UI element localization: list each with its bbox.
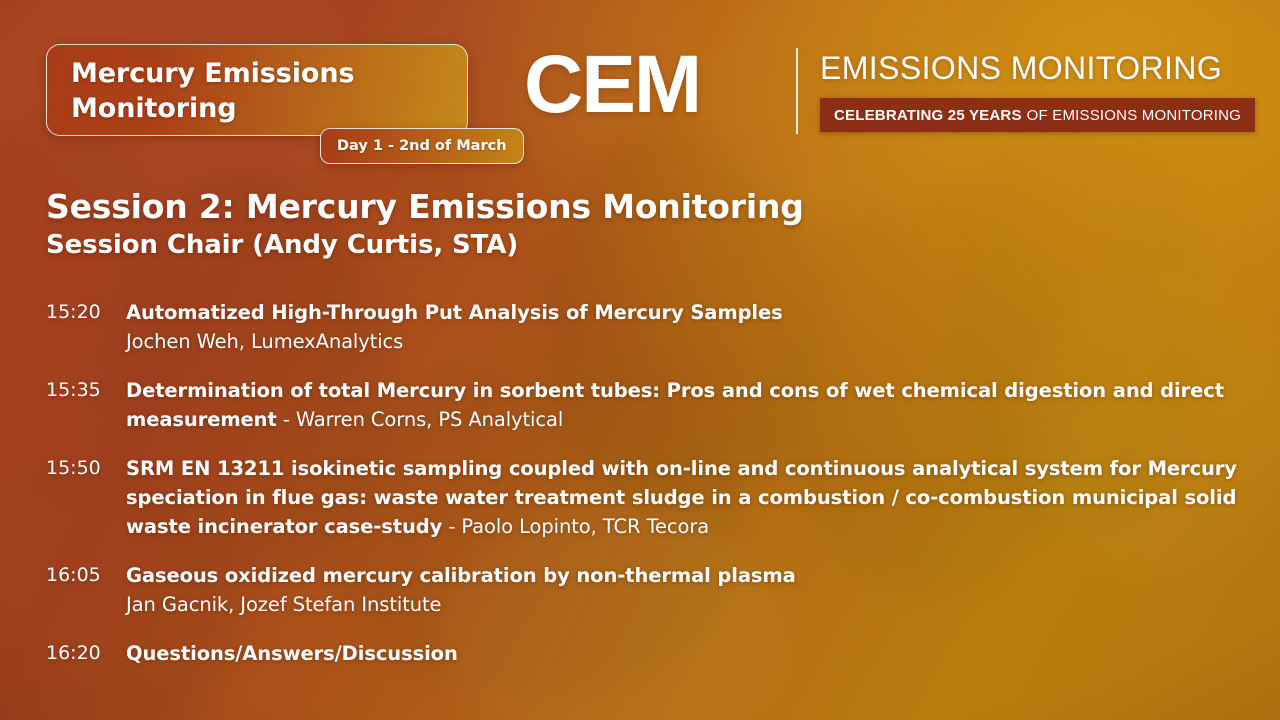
day-badge: Day 1 - 2nd of March: [320, 128, 524, 164]
agenda-time: 15:35: [46, 376, 126, 405]
agenda-body: Questions/Answers/Discussion: [126, 639, 1246, 668]
agenda-speaker: Jan Gacnik, Jozef Stefan Institute: [126, 590, 1246, 619]
agenda-title-text: Automatized High-Through Put Analysis of…: [126, 301, 783, 324]
cem-wordmark: CEM: [524, 44, 700, 126]
agenda-row: 15:50 SRM EN 13211 isokinetic sampling c…: [46, 454, 1246, 541]
agenda-row: 15:20 Automatized High-Through Put Analy…: [46, 298, 1246, 356]
conference-session-slide: Mercury Emissions Monitoring Day 1 - 2nd…: [0, 0, 1280, 720]
agenda-row: 15:35 Determination of total Mercury in …: [46, 376, 1246, 434]
cem-logo-subtitle: EMISSIONS MONITORING: [820, 50, 1222, 87]
day-badge-label: Day 1 - 2nd of March: [337, 138, 507, 154]
agenda-speaker: Jochen Weh, LumexAnalytics: [126, 327, 1246, 356]
logo-divider: [796, 48, 798, 134]
agenda-list: 15:20 Automatized High-Through Put Analy…: [46, 298, 1246, 688]
anniversary-ribbon-normal: OF EMISSIONS MONITORING: [1027, 107, 1241, 124]
agenda-time: 15:20: [46, 298, 126, 327]
agenda-time: 16:20: [46, 639, 126, 668]
agenda-body: SRM EN 13211 isokinetic sampling coupled…: [126, 454, 1246, 541]
agenda-title-text: Questions/Answers/Discussion: [126, 642, 458, 665]
topic-banner-line-2: Monitoring: [71, 91, 467, 126]
agenda-body: Automatized High-Through Put Analysis of…: [126, 298, 1246, 356]
agenda-body: Determination of total Mercury in sorben…: [126, 376, 1246, 434]
agenda-title: Determination of total Mercury in sorben…: [126, 376, 1246, 434]
agenda-title: SRM EN 13211 isokinetic sampling coupled…: [126, 454, 1246, 541]
anniversary-ribbon-strong: CELEBRATING 25 YEARS: [834, 107, 1022, 124]
agenda-title: Gaseous oxidized mercury calibration by …: [126, 561, 1246, 590]
agenda-speaker-inline: - Warren Corns, PS Analytical: [277, 408, 563, 431]
session-heading: Session 2: Mercury Emissions Monitoring …: [46, 186, 1196, 262]
topic-banner-line-1: Mercury Emissions: [71, 56, 467, 91]
agenda-speaker-inline: - Paolo Lopinto, TCR Tecora: [442, 515, 709, 538]
session-title: Session 2: Mercury Emissions Monitoring: [46, 186, 1196, 228]
agenda-row: 16:20 Questions/Answers/Discussion: [46, 639, 1246, 668]
agenda-time: 15:50: [46, 454, 126, 483]
topic-banner: Mercury Emissions Monitoring: [46, 44, 468, 136]
session-chair: Session Chair (Andy Curtis, STA): [46, 228, 1196, 262]
agenda-title: Questions/Answers/Discussion: [126, 639, 1246, 668]
anniversary-ribbon: CELEBRATING 25 YEARS OF EMISSIONS MONITO…: [820, 98, 1255, 132]
agenda-time: 16:05: [46, 561, 126, 590]
agenda-title-text: Gaseous oxidized mercury calibration by …: [126, 564, 796, 587]
agenda-body: Gaseous oxidized mercury calibration by …: [126, 561, 1246, 619]
agenda-row: 16:05 Gaseous oxidized mercury calibrati…: [46, 561, 1246, 619]
agenda-title: Automatized High-Through Put Analysis of…: [126, 298, 1246, 327]
